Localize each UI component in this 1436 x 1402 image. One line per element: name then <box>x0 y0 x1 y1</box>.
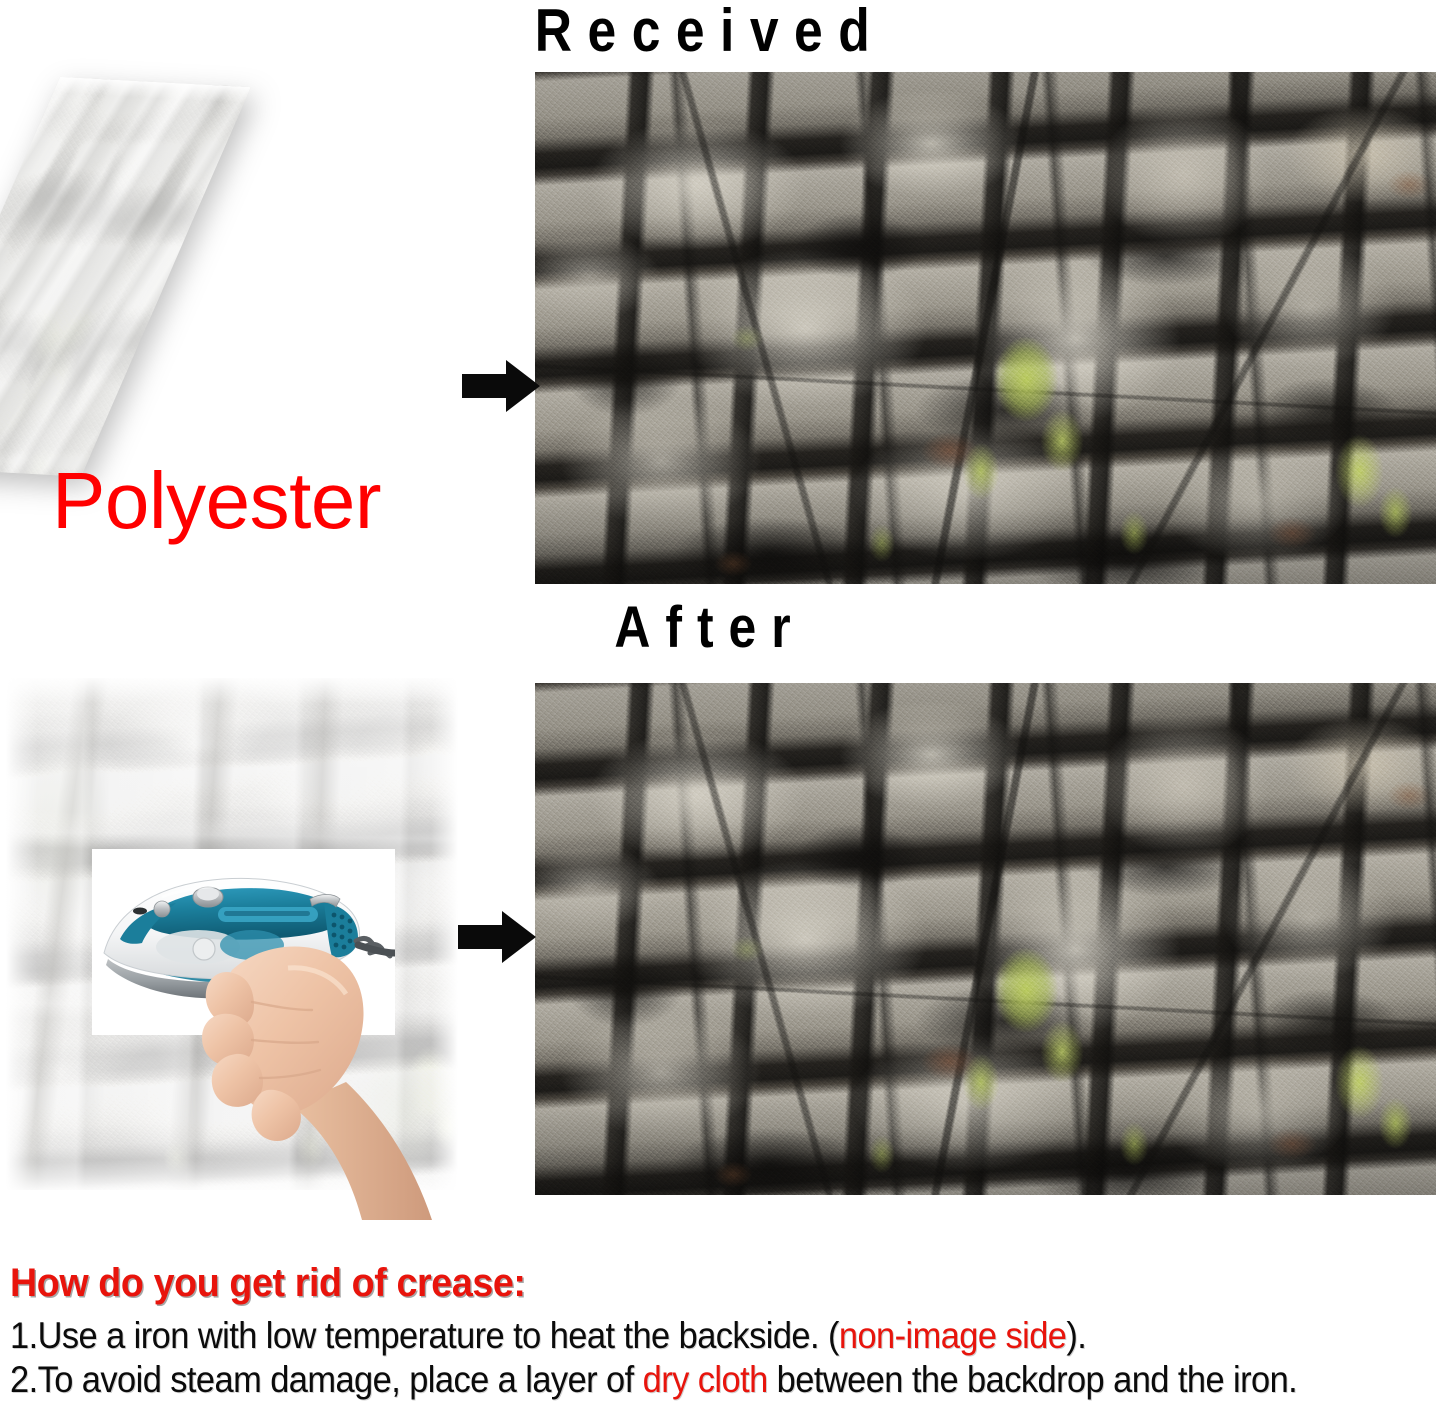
after-backdrop-photo <box>535 683 1436 1195</box>
instruction-line-1-part2: ). <box>1066 1315 1086 1356</box>
instructions-block: How do you get rid of crease: 1.Use a ir… <box>10 1258 1436 1402</box>
received-backdrop-photo <box>535 72 1436 584</box>
material-label: Polyester <box>52 457 381 545</box>
instruction-line-2: 2.To avoid steam damage, place a layer o… <box>10 1358 1336 1402</box>
hand-icon <box>196 910 436 1220</box>
instruction-line-2-part2: between the backdrop and the iron. <box>768 1359 1298 1400</box>
arrow-right-icon <box>462 357 540 415</box>
fabric-creases <box>0 77 251 477</box>
folded-fabric-illustration <box>18 82 418 482</box>
instruction-line-1-part1: 1.Use a iron with low temperature to hea… <box>10 1315 839 1356</box>
instruction-line-1: 1.Use a iron with low temperature to hea… <box>10 1314 1336 1358</box>
instruction-line-2-highlight: dry cloth <box>643 1359 768 1400</box>
instruction-line-1-highlight: non-image side <box>839 1315 1066 1356</box>
arrow-right-icon <box>458 908 536 966</box>
received-heading: Received <box>409 0 1011 64</box>
after-heading: After <box>452 596 968 660</box>
crease-question-heading: How do you get rid of crease: <box>10 1258 1350 1308</box>
instruction-line-2-part1: 2.To avoid steam damage, place a layer o… <box>10 1359 643 1400</box>
folded-fabric-panel <box>0 77 251 477</box>
